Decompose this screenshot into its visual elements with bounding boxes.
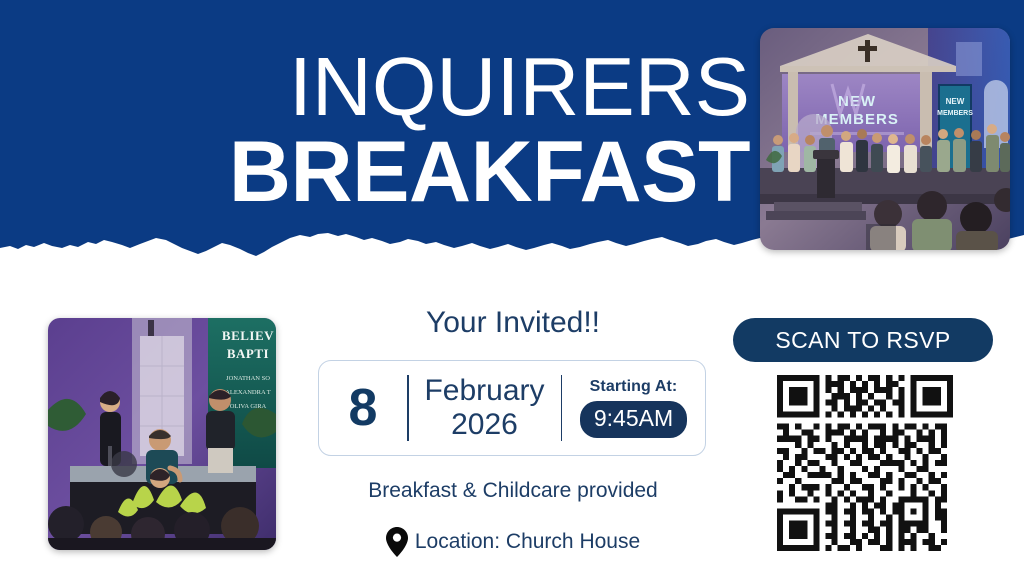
svg-text:BELIEV: BELIEV: [222, 328, 274, 343]
svg-text:MEMBERS: MEMBERS: [937, 110, 973, 117]
page-title: INQUIRERS BREAKFAST: [150, 46, 750, 215]
new-members-stage-photo: NEW MEMBERS NEW MEMBERS: [760, 28, 1010, 250]
event-month: February: [415, 374, 555, 408]
svg-text:ALEXANDRA T: ALEXANDRA T: [225, 389, 271, 396]
scan-to-rsvp-button[interactable]: SCAN TO RSVP: [733, 318, 993, 362]
flyer-canvas: INQUIRERS BREAKFAST: [0, 0, 1024, 576]
qr-code[interactable]: [777, 375, 953, 551]
svg-text:NEW: NEW: [946, 97, 965, 106]
map-pin-icon: [386, 527, 408, 557]
location-text: Location: Church House: [415, 530, 640, 554]
svg-text:BAPTI: BAPTI: [227, 346, 269, 361]
title-line-breakfast: BREAKFAST: [150, 129, 750, 215]
rsvp-button-label: SCAN TO RSVP: [775, 327, 950, 354]
svg-text:JONATHAN SO: JONATHAN SO: [226, 375, 270, 382]
event-month-year: February 2026: [409, 374, 561, 441]
breakfast-childcare-note: Breakfast & Childcare provided: [263, 479, 763, 503]
believers-baptism-photo: BELIEV BAPTI JONATHAN SO ALEXANDRA T OLI…: [48, 318, 276, 550]
event-year: 2026: [415, 408, 555, 442]
start-time-badge: 9:45AM: [580, 401, 687, 437]
event-day: 8: [319, 382, 407, 434]
title-line-inquirers: INQUIRERS: [150, 46, 750, 127]
invitation-heading: Your Invited!!: [313, 306, 713, 340]
event-time-block: Starting At: 9:45AM: [562, 378, 705, 437]
event-date-card: 8 February 2026 Starting At: 9:45AM: [318, 360, 706, 456]
location-note: Location: Church House: [263, 527, 763, 557]
starting-at-label: Starting At:: [568, 378, 699, 396]
